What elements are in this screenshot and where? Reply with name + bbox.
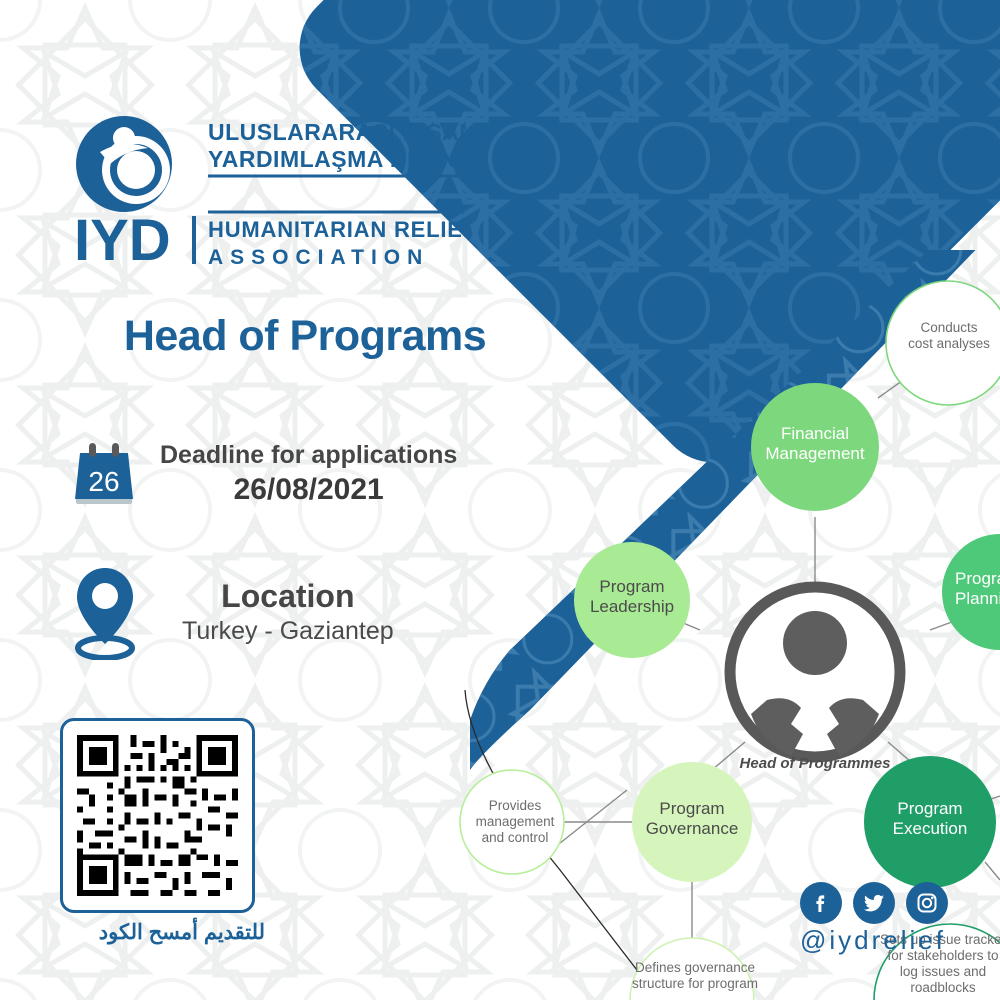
deadline-texts: Deadline for applications 26/08/2021 bbox=[160, 440, 457, 509]
calendar-day-number: 26 bbox=[88, 466, 119, 497]
twitter-icon[interactable] bbox=[853, 882, 895, 924]
logo-line3: HUMANITARIAN RELIEF bbox=[208, 217, 466, 242]
logo-svg: IYD ULUSLARARASI INSANI YARDIMLAŞMA DERN… bbox=[66, 112, 466, 270]
qr-code-box[interactable] bbox=[60, 718, 255, 913]
deadline-row: 26 Deadline for applications 26/08/2021 bbox=[72, 440, 457, 509]
facebook-icon[interactable] bbox=[800, 882, 842, 924]
logo-mark-icon bbox=[76, 116, 172, 212]
location-texts: Location Turkey - Gaziantep bbox=[182, 577, 394, 649]
social-icons[interactable] bbox=[800, 882, 948, 924]
logo-line-arabic: هيئة الإغاثة الإنسانية bbox=[464, 181, 466, 210]
social-handle[interactable]: @iydrelief bbox=[800, 925, 946, 956]
qr-caption: للتقديم أمسح الكود bbox=[50, 920, 265, 945]
location-label: Location bbox=[182, 577, 394, 615]
map-pin-icon bbox=[72, 566, 138, 660]
deadline-label: Deadline for applications bbox=[160, 440, 457, 471]
logo-line1: ULUSLARARASI INSANI bbox=[208, 119, 466, 145]
location-row: Location Turkey - Gaziantep bbox=[72, 566, 394, 660]
page-title: Head of Programs bbox=[60, 312, 550, 361]
location-value: Turkey - Gaziantep bbox=[182, 615, 394, 649]
calendar-icon: 26 bbox=[72, 441, 136, 507]
qr-code-icon[interactable] bbox=[71, 729, 244, 902]
logo-line2: YARDIMLAŞMA DERNEĞI bbox=[208, 145, 466, 172]
instagram-icon[interactable] bbox=[906, 882, 948, 924]
job-posting-poster: IYD ULUSLARARASI INSANI YARDIMLAŞMA DERN… bbox=[0, 0, 1000, 1000]
iyd-logo: IYD ULUSLARARASI INSANI YARDIMLAŞMA DERN… bbox=[66, 112, 466, 270]
deadline-date: 26/08/2021 bbox=[160, 471, 457, 509]
logo-iyd-text: IYD bbox=[74, 208, 171, 270]
logo-line4: ASSOCIATION bbox=[208, 246, 429, 269]
